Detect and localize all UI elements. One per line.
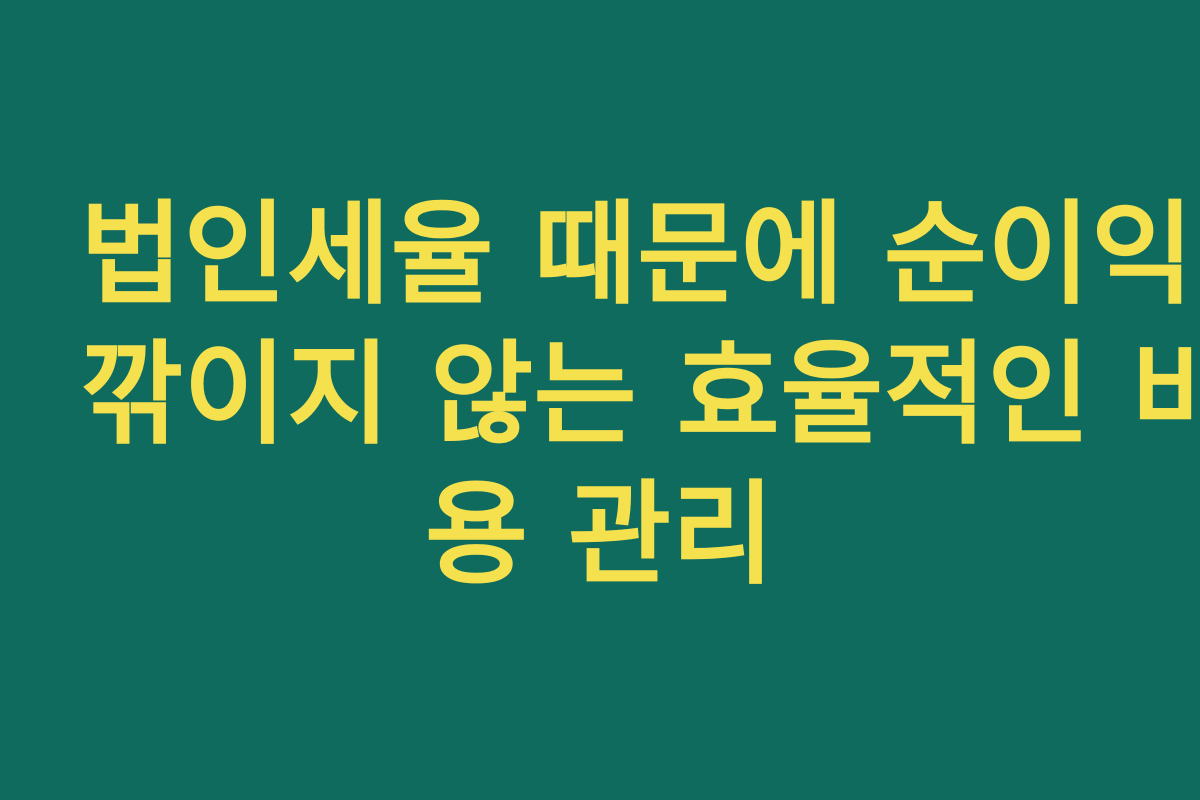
title-line-1: 법인세율 때문에 순이익 (80, 185, 1120, 325)
title-line-3: 용 관리 (80, 465, 1120, 605)
title-card: 법인세율 때문에 순이익 깎이지 않는 효율적인 비 용 관리 (0, 0, 1200, 800)
title-line-2: 깎이지 않는 효율적인 비 (80, 325, 1120, 465)
title-text-block: 법인세율 때문에 순이익 깎이지 않는 효율적인 비 용 관리 (80, 185, 1120, 605)
